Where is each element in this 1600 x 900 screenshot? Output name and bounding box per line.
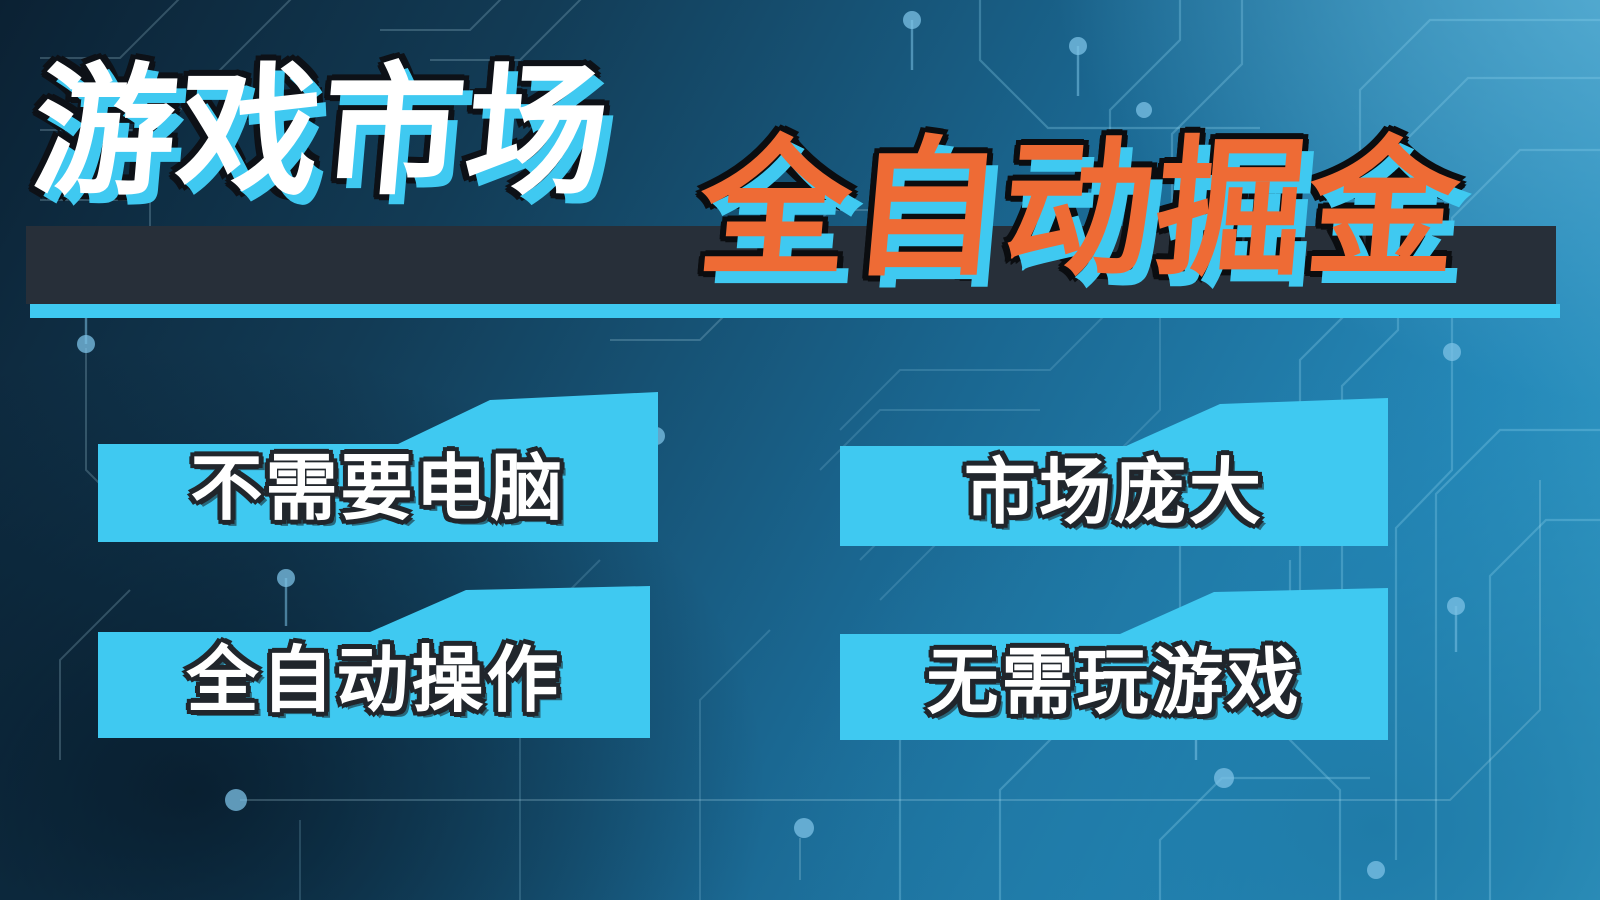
feature-label: 无需玩游戏 xyxy=(840,646,1388,718)
feature-box-fully-automatic[interactable]: 全自动操作 xyxy=(98,586,650,738)
feature-box-no-gameplay[interactable]: 无需玩游戏 xyxy=(840,588,1388,740)
feature-box-no-computer[interactable]: 不需要电脑 xyxy=(98,392,658,542)
feature-label: 市场庞大 xyxy=(840,456,1388,528)
poster-canvas: 游戏市场 全自动掘金 不需要电脑 市场庞大 全自动操作 xyxy=(0,0,1600,900)
feature-label: 不需要电脑 xyxy=(98,452,658,524)
feature-box-huge-market[interactable]: 市场庞大 xyxy=(840,398,1388,546)
feature-label: 全自动操作 xyxy=(98,644,650,716)
feature-box-group: 不需要电脑 市场庞大 全自动操作 无需玩游戏 xyxy=(0,0,1600,900)
